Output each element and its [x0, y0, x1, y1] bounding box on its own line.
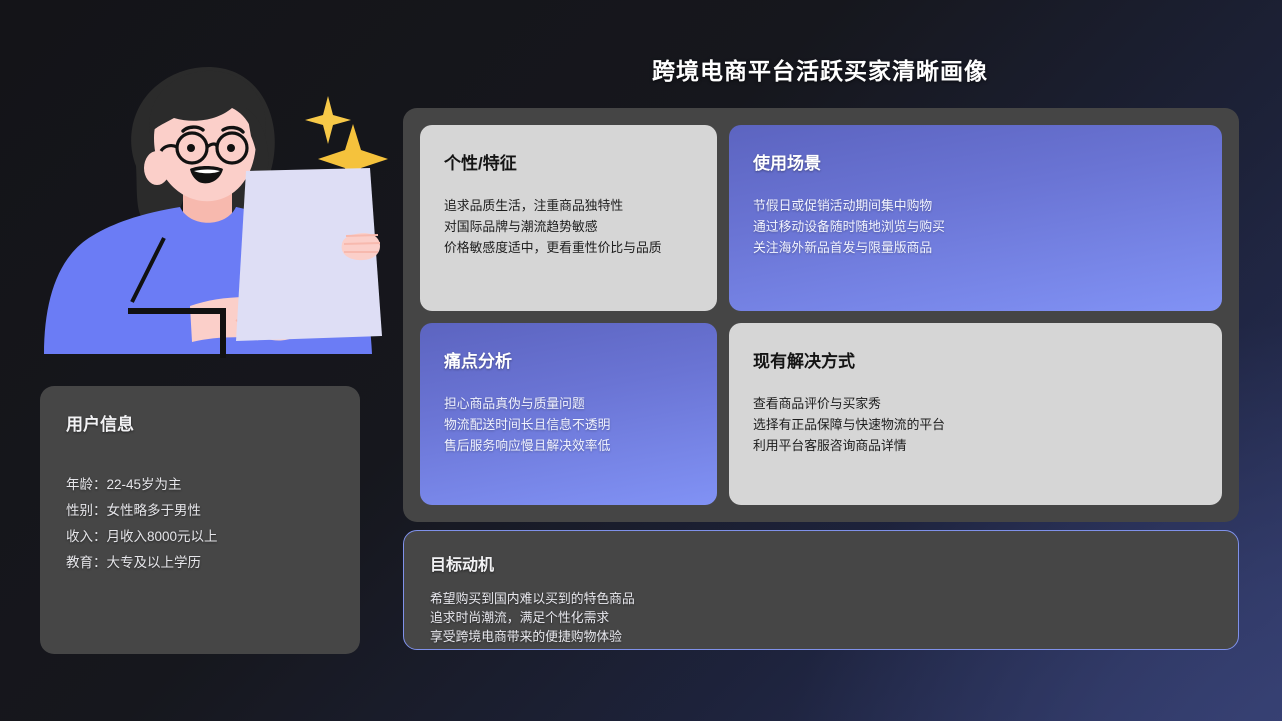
card-personality: 个性/特征 追求品质生活，注重商品独特性 对国际品牌与潮流趋势敏感 价格敏感度适… [420, 125, 717, 311]
user-info-card: 用户信息 年龄：22-45岁为主 性别：女性略多于男性 收入：月收入8000元以… [40, 386, 360, 654]
list-item: 年龄：22-45岁为主 [66, 475, 334, 495]
card-lines: 追求品质生活，注重商品独特性 对国际品牌与潮流趋势敏感 价格敏感度适中，更看重性… [444, 196, 693, 257]
list-item: 担心商品真伪与质量问题 [444, 394, 693, 413]
list-item: 物流配送时间长且信息不透明 [444, 415, 693, 434]
list-item: 节假日或促销活动期间集中购物 [753, 196, 1198, 215]
list-item: 性别：女性略多于男性 [66, 501, 334, 521]
list-item: 查看商品评价与买家秀 [753, 394, 1198, 413]
list-item: 收入：月收入8000元以上 [66, 527, 334, 547]
list-item: 关注海外新品首发与限量版商品 [753, 238, 1198, 257]
card-lines: 节假日或促销活动期间集中购物 通过移动设备随时随地浏览与购买 关注海外新品首发与… [753, 196, 1198, 257]
user-info-list: 年龄：22-45岁为主 性别：女性略多于男性 收入：月收入8000元以上 教育：… [66, 475, 334, 573]
card-usage-scenario: 使用场景 节假日或促销活动期间集中购物 通过移动设备随时随地浏览与购买 关注海外… [729, 125, 1222, 311]
list-item: 利用平台客服咨询商品详情 [753, 436, 1198, 455]
card-lines: 担心商品真伪与质量问题 物流配送时间长且信息不透明 售后服务响应慢且解决效率低 [444, 394, 693, 455]
list-item: 追求时尚潮流，满足个性化需求 [430, 608, 1212, 627]
persona-cards-panel: 个性/特征 追求品质生活，注重商品独特性 对国际品牌与潮流趋势敏感 价格敏感度适… [403, 108, 1239, 522]
card-pain-points: 痛点分析 担心商品真伪与质量问题 物流配送时间长且信息不透明 售后服务响应慢且解… [420, 323, 717, 505]
card-title: 个性/特征 [444, 149, 693, 174]
card-title: 目标动机 [430, 551, 1212, 575]
page-title: 跨境电商平台活跃买家清晰画像 [401, 52, 1239, 86]
list-item: 通过移动设备随时随地浏览与购买 [753, 217, 1198, 236]
card-title: 痛点分析 [444, 347, 693, 372]
list-item: 选择有正品保障与快速物流的平台 [753, 415, 1198, 434]
list-item: 希望购买到国内难以买到的特色商品 [430, 589, 1212, 608]
sparkle-icon [305, 96, 351, 144]
list-item: 价格敏感度适中，更看重性价比与品质 [444, 238, 693, 257]
user-info-title: 用户信息 [66, 410, 334, 435]
card-lines: 查看商品评价与买家秀 选择有正品保障与快速物流的平台 利用平台客服咨询商品详情 [753, 394, 1198, 455]
card-lines: 希望购买到国内难以买到的特色商品 追求时尚潮流，满足个性化需求 享受跨境电商带来… [430, 589, 1212, 646]
card-existing-solutions: 现有解决方式 查看商品评价与买家秀 选择有正品保障与快速物流的平台 利用平台客服… [729, 323, 1222, 505]
list-item: 享受跨境电商带来的便捷购物体验 [430, 627, 1212, 646]
persona-infographic: 跨境电商平台活跃买家清晰画像 [0, 0, 1282, 721]
list-item: 售后服务响应慢且解决效率低 [444, 436, 693, 455]
list-item: 追求品质生活，注重商品独特性 [444, 196, 693, 215]
card-goal-motivation: 目标动机 希望购买到国内难以买到的特色商品 追求时尚潮流，满足个性化需求 享受跨… [403, 530, 1239, 650]
list-item: 教育：大专及以上学历 [66, 553, 334, 573]
card-title: 现有解决方式 [753, 347, 1198, 372]
woman-with-document-illustration [40, 38, 396, 358]
list-item: 对国际品牌与潮流趋势敏感 [444, 217, 693, 236]
card-title: 使用场景 [753, 149, 1198, 174]
